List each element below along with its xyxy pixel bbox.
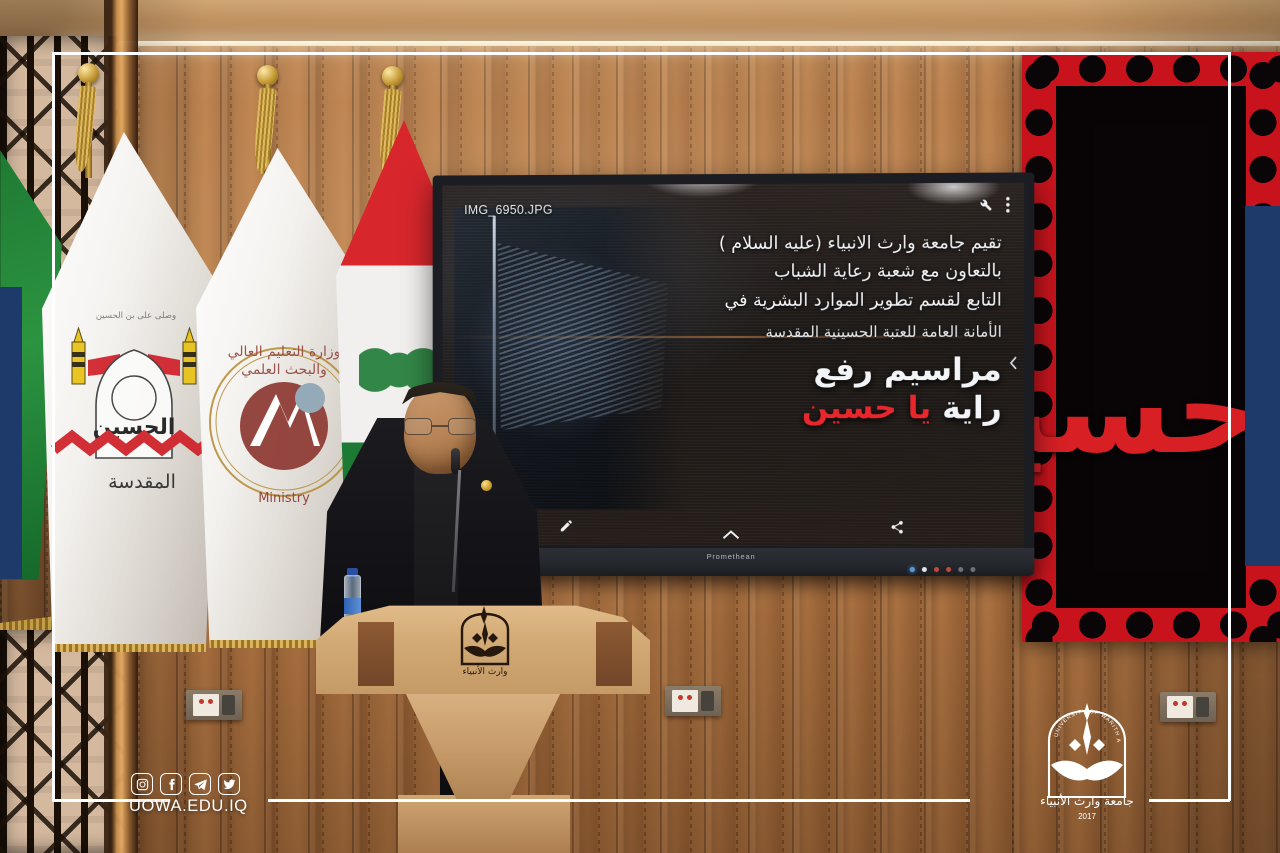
socket-plate <box>1167 696 1193 718</box>
photo-stage: وصلى على بن الحسين الحسين المقدسة <box>0 0 1280 853</box>
svg-text:وصلى على بن الحسين: وصلى على بن الحسين <box>96 311 176 321</box>
svg-text:Ministry: Ministry <box>258 491 310 506</box>
svg-text:وزارة التعليم العالي: وزارة التعليم العالي <box>228 344 341 360</box>
svg-text:والبحث العلمي: والبحث العلمي <box>241 362 327 378</box>
socket-switch <box>701 691 714 711</box>
menu-button[interactable] <box>934 567 939 572</box>
socket-plate <box>193 694 219 716</box>
podium-university-crest: وارث الأنبياء <box>448 604 522 682</box>
volume-down-button[interactable] <box>958 567 963 572</box>
wall-socket-left <box>186 690 242 720</box>
banner-calligraphy: حسين <box>1022 352 1262 472</box>
slide-line-3: التابع لقسم تطوير الموارد البشرية في <box>570 286 1002 315</box>
pencil-icon[interactable] <box>559 518 574 537</box>
screen-glare-left <box>638 183 766 199</box>
slide-calligraphy: الأمانة العامة للعتبة الحسينية المقدسة <box>570 323 1002 341</box>
mourning-banner: حسين <box>1022 52 1280 642</box>
image-filename-label: IMG_6950.JPG <box>464 203 553 217</box>
bezel-controls-right[interactable] <box>910 567 976 572</box>
display-toolbar[interactable] <box>978 197 1009 213</box>
chevron-up-icon[interactable] <box>722 525 740 544</box>
socket-switch <box>222 695 235 715</box>
slide-headline-line-1: مراسيم رفع <box>570 352 1002 390</box>
wrench-icon[interactable] <box>978 198 992 212</box>
flag-pole-finial <box>78 63 99 84</box>
home-button[interactable] <box>922 567 927 572</box>
slide-headline-white: راية <box>942 390 1002 426</box>
twitter-icon[interactable] <box>218 773 240 795</box>
logo-year: 2017 <box>1078 812 1096 821</box>
wall-socket-center <box>665 686 721 716</box>
power-indicator-icon[interactable] <box>910 567 915 572</box>
accent-bar-right <box>1245 206 1280 566</box>
display-screen[interactable]: IMG_6950.JPG تقيم جامعة وارث الانبياء (ع… <box>443 183 1025 548</box>
glasses-lens-right <box>448 418 476 435</box>
banner-scallop-bottom <box>1022 608 1280 642</box>
flag-pole-finial <box>257 65 278 86</box>
facebook-icon[interactable] <box>160 773 182 795</box>
karbala-shrine-emblem: وصلى على بن الحسين الحسين المقدسة <box>50 302 218 512</box>
wall-socket-right <box>1160 692 1216 722</box>
banner-scallop-top <box>1022 52 1280 86</box>
svg-text:المقدسة: المقدسة <box>108 471 176 493</box>
slide-headline-accent: يا حسين <box>802 390 931 426</box>
slide-headline: مراسيم رفع راية يا حسين <box>570 352 1002 428</box>
podium-inset-right <box>596 622 632 686</box>
socket-plate <box>672 690 698 712</box>
telegram-icon[interactable] <box>189 773 211 795</box>
socket-switch <box>1196 697 1209 717</box>
more-vertical-icon[interactable] <box>1006 197 1010 213</box>
podium-base <box>398 795 570 853</box>
chevron-left-icon[interactable] <box>1009 355 1018 374</box>
slide-text-block: تقيم جامعة وارث الانبياء (عليه السلام ) … <box>570 229 1002 428</box>
glasses-lens-left <box>404 418 432 435</box>
logo-arabic-text: جامعة وارث الأنبياء <box>1040 793 1134 809</box>
speaker-glasses <box>404 418 476 435</box>
lapel-pin <box>481 480 492 491</box>
input-button[interactable] <box>946 567 951 572</box>
instagram-icon[interactable] <box>131 773 153 795</box>
website-url: UOWA.EDU.IQ <box>129 797 248 816</box>
glasses-bridge <box>432 425 448 427</box>
accent-bar-left <box>0 287 22 579</box>
slide-line-1: تقيم جامعة وارث الانبياء (عليه السلام ) <box>570 229 1002 259</box>
slide-headline-line-2: راية يا حسين <box>570 390 1002 428</box>
podium-inset-left <box>358 622 394 686</box>
logo-english-ring-text: UNIVERSITY OF WARITH AL-ANBIYAA <box>1039 697 1121 743</box>
display-brand-label: Promethean <box>707 552 756 561</box>
share-icon[interactable] <box>890 520 905 539</box>
svg-text:وارث الأنبياء: وارث الأنبياء <box>462 665 507 677</box>
water-bottle-label <box>344 598 361 614</box>
slide-line-2: بالتعاون مع شعبة رعاية الشباب <box>570 258 1002 287</box>
volume-up-button[interactable] <box>970 567 975 572</box>
social-links[interactable] <box>131 773 240 795</box>
flag-pole-finial <box>382 66 403 87</box>
university-logo: جامعة وارث الأنبياء 2017 UNIVERSITY OF W… <box>1039 697 1135 829</box>
